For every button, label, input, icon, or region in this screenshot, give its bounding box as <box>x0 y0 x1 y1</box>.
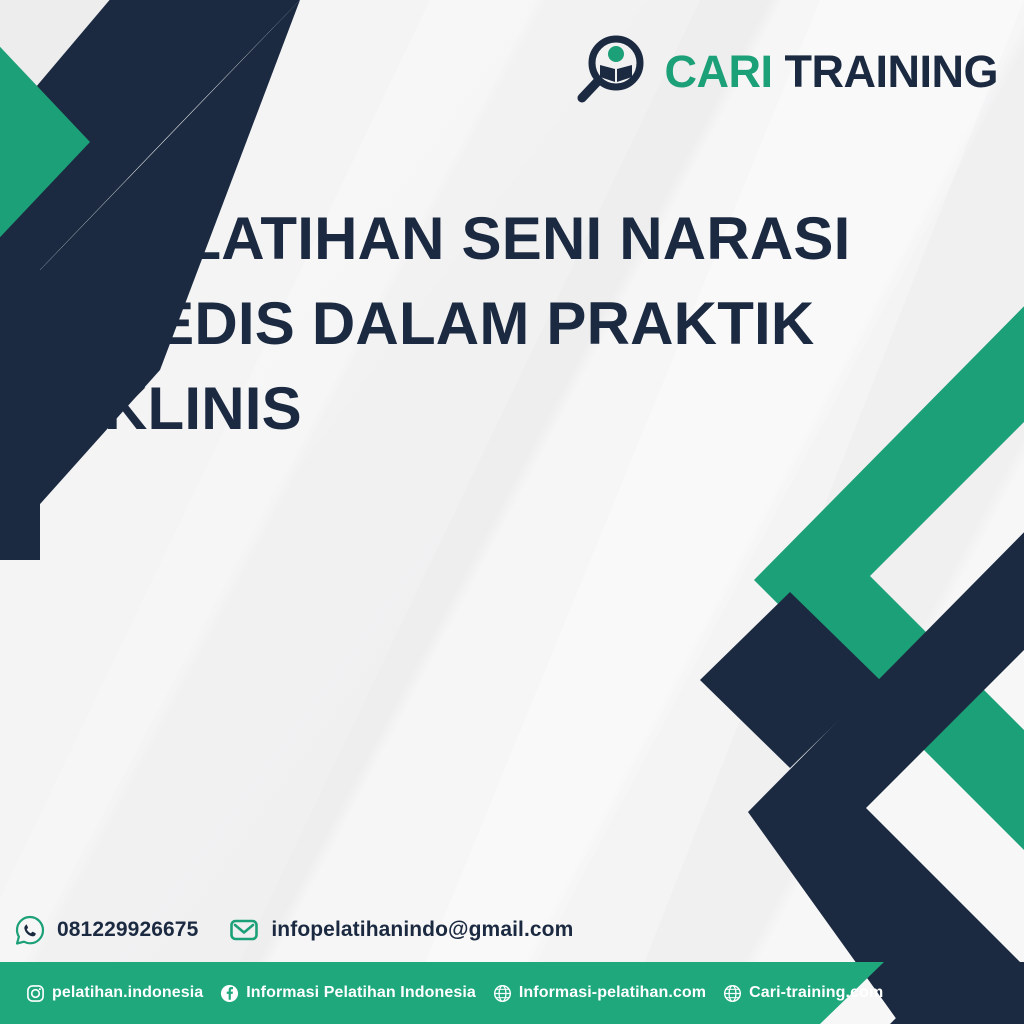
contact-whatsapp[interactable]: 081229926675 <box>14 914 198 946</box>
poster-canvas: CARI TRAINING PELATIHAN SENI NARASI MEDI… <box>0 0 1024 1024</box>
footer-item-website-2[interactable]: Cari-training.com <box>723 984 883 1003</box>
page-title: PELATIHAN SENI NARASI MEDIS DALAM PRAKTI… <box>104 196 904 452</box>
footer-instagram-label: pelatihan.indonesia <box>52 985 203 1001</box>
footer-website-1-label: Informasi-pelatihan.com <box>519 985 706 1001</box>
footer-bar: pelatihan.indonesia Informasi Pelatihan … <box>0 962 1024 1024</box>
globe-icon <box>723 984 742 1003</box>
brand-wordmark: CARI TRAINING <box>664 49 998 94</box>
footer-item-website-1[interactable]: Informasi-pelatihan.com <box>493 984 706 1003</box>
brand-word-training: TRAINING <box>785 46 999 97</box>
brand-logo[interactable]: CARI TRAINING <box>574 34 998 108</box>
footer-item-instagram[interactable]: pelatihan.indonesia <box>26 984 203 1003</box>
instagram-icon <box>26 984 45 1003</box>
footer-website-2-label: Cari-training.com <box>749 985 883 1001</box>
whatsapp-icon <box>14 914 46 946</box>
email-icon <box>228 914 260 946</box>
magnifier-book-icon <box>574 34 648 108</box>
decorative-shapes <box>0 0 1024 1024</box>
brand-word-cari: CARI <box>664 46 772 97</box>
footer-item-facebook[interactable]: Informasi Pelatihan Indonesia <box>220 984 476 1003</box>
contact-bar: 081229926675 infopelatihanindo@gmail.com <box>14 914 573 946</box>
footer-facebook-label: Informasi Pelatihan Indonesia <box>246 985 476 1001</box>
footer-links: pelatihan.indonesia Informasi Pelatihan … <box>26 962 883 1024</box>
facebook-icon <box>220 984 239 1003</box>
contact-email-label: infopelatihanindo@gmail.com <box>271 918 573 942</box>
globe-icon <box>493 984 512 1003</box>
contact-phone-label: 081229926675 <box>57 918 198 942</box>
contact-email[interactable]: infopelatihanindo@gmail.com <box>228 914 573 946</box>
